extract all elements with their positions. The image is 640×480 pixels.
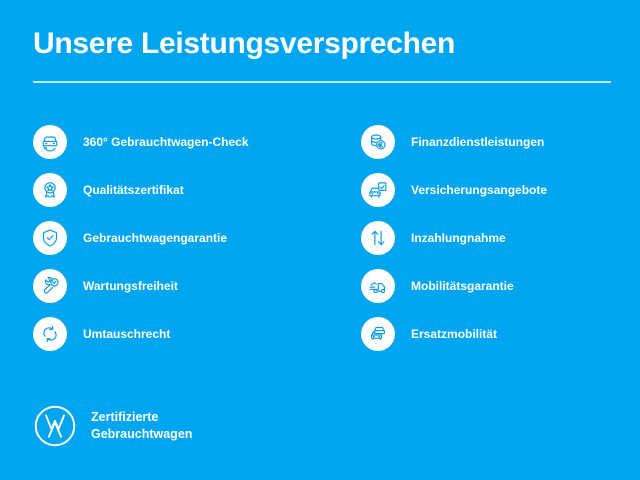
tow-truck-icon (361, 269, 395, 303)
list-item-label: Qualitätszertifikat (83, 182, 184, 198)
footer-brand-text: Zertifizierte Gebrauchtwagen (91, 409, 192, 443)
volkswagen-logo-icon (33, 404, 77, 448)
award-rosette-icon (33, 173, 67, 207)
list-item[interactable]: Gebrauchtwagengarantie (33, 214, 353, 262)
list-item-label: Wartungsfreiheit (83, 278, 178, 294)
footer-brand: Zertifizierte Gebrauchtwagen (33, 404, 192, 448)
list-item[interactable]: Inzahlungnahme (361, 214, 636, 262)
car-document-icon (361, 173, 395, 207)
list-item-label: Umtauschrecht (83, 326, 170, 342)
feature-columns: 360° Gebrauchtwagen-Check Qualitätszerti… (0, 118, 640, 358)
list-item-label: Mobilitätsgarantie (411, 278, 514, 294)
promo-banner: Unsere Leistungsversprechen 360° Gebrauc… (0, 0, 640, 480)
shield-check-icon (33, 221, 67, 255)
coins-euro-icon (361, 125, 395, 159)
list-item[interactable]: Mobilitätsgarantie (361, 262, 636, 310)
list-item-label: 360° Gebrauchtwagen-Check (83, 134, 249, 150)
list-item[interactable]: Umtauschrecht (33, 310, 353, 358)
footer-line-1: Zertifizierte (91, 409, 192, 426)
page-title: Unsere Leistungsversprechen (33, 26, 611, 62)
car-360-check-icon (33, 125, 67, 159)
list-item-label: Gebrauchtwagengarantie (83, 230, 227, 246)
footer-line-2: Gebrauchtwagen (91, 426, 192, 443)
list-item-label: Inzahlungnahme (411, 230, 506, 246)
list-item[interactable]: 360° Gebrauchtwagen-Check (33, 118, 353, 166)
list-item-label: Versicherungsangebote (411, 182, 547, 198)
list-item[interactable]: Versicherungsangebote (361, 166, 636, 214)
wrench-check-icon (33, 269, 67, 303)
up-down-arrows-icon (361, 221, 395, 255)
list-item[interactable]: Finanzdienstleistungen (361, 118, 636, 166)
two-cars-icon (361, 317, 395, 351)
list-item[interactable]: Qualitätszertifikat (33, 166, 353, 214)
feature-column-right: Finanzdienstleistungen Versicherungsange… (361, 118, 636, 358)
header: Unsere Leistungsversprechen (33, 26, 611, 83)
list-item-label: Finanzdienstleistungen (411, 134, 544, 150)
exchange-arrows-icon (33, 317, 67, 351)
list-item-label: Ersatzmobilität (411, 326, 497, 342)
feature-column-left: 360° Gebrauchtwagen-Check Qualitätszerti… (33, 118, 353, 358)
list-item[interactable]: Wartungsfreiheit (33, 262, 353, 310)
title-divider (33, 81, 611, 83)
list-item[interactable]: Ersatzmobilität (361, 310, 636, 358)
